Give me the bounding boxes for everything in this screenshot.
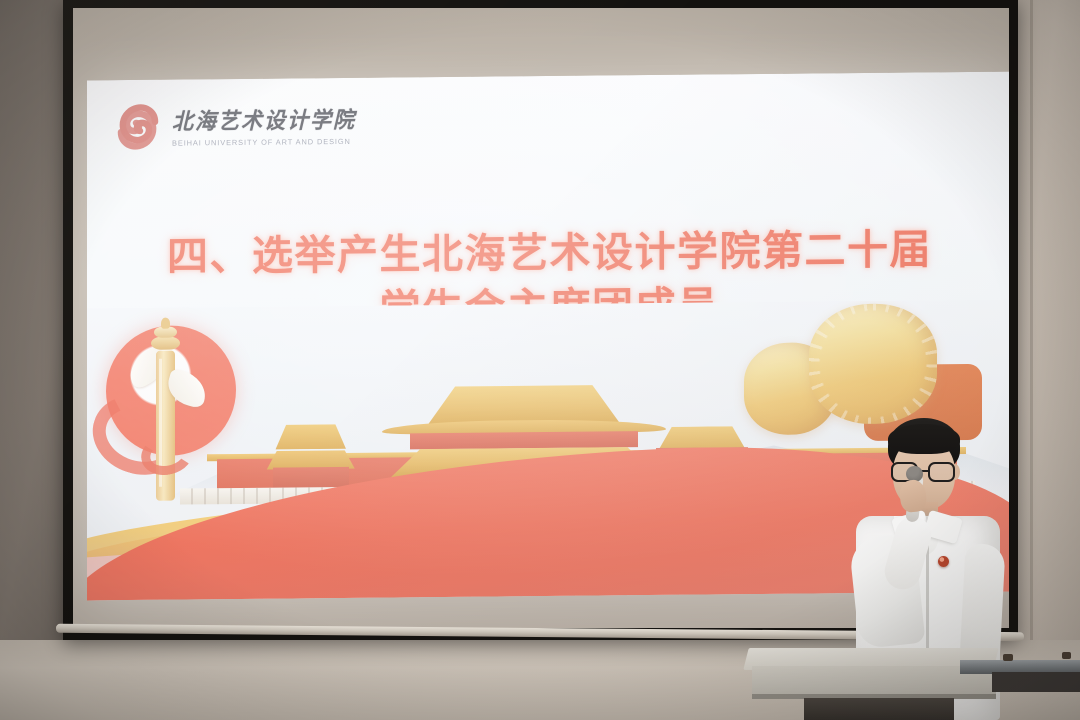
huabiao-ribbon-swirl: [137, 429, 196, 479]
slide-title-line-1: 四、选举产生北海艺术设计学院第二十届: [167, 226, 932, 279]
desk-clip-left: [1003, 654, 1013, 661]
logo-chinese-name: 北海艺术设计学院: [172, 103, 356, 137]
lecture-hall-photo: 北海艺术设计学院 BEIHAI UNIVERSITY OF ART AND DE…: [0, 0, 1080, 720]
left-pavilion-roof: [267, 423, 355, 450]
black-round-glasses-icon: [890, 462, 960, 482]
red-lapel-pin: [938, 556, 949, 567]
desk-clip-right: [1062, 652, 1071, 659]
logo-english-name: BEIHAI UNIVERSITY OF ART AND DESIGN: [172, 137, 356, 148]
lectern-base: [804, 698, 954, 720]
front-desk-body: [992, 672, 1080, 692]
palace-mid-band: [410, 431, 638, 449]
glasses-lens-right: [928, 462, 955, 482]
huabiao-finial: [161, 317, 170, 328]
beihai-swirl-logo-icon: [115, 104, 161, 150]
slide-logo: 北海艺术设计学院 BEIHAI UNIVERSITY OF ART AND DE…: [115, 102, 356, 150]
lectern: [746, 648, 1008, 720]
wall-seam: [1030, 0, 1033, 700]
huabiao-column: [143, 316, 189, 516]
speaker-fringe: [888, 424, 960, 454]
huabiao-disc: [151, 336, 180, 349]
logo-text-block: 北海艺术设计学院 BEIHAI UNIVERSITY OF ART AND DE…: [172, 104, 356, 148]
left-pavilion: [263, 423, 359, 494]
drum-rim-studs: [809, 303, 937, 424]
